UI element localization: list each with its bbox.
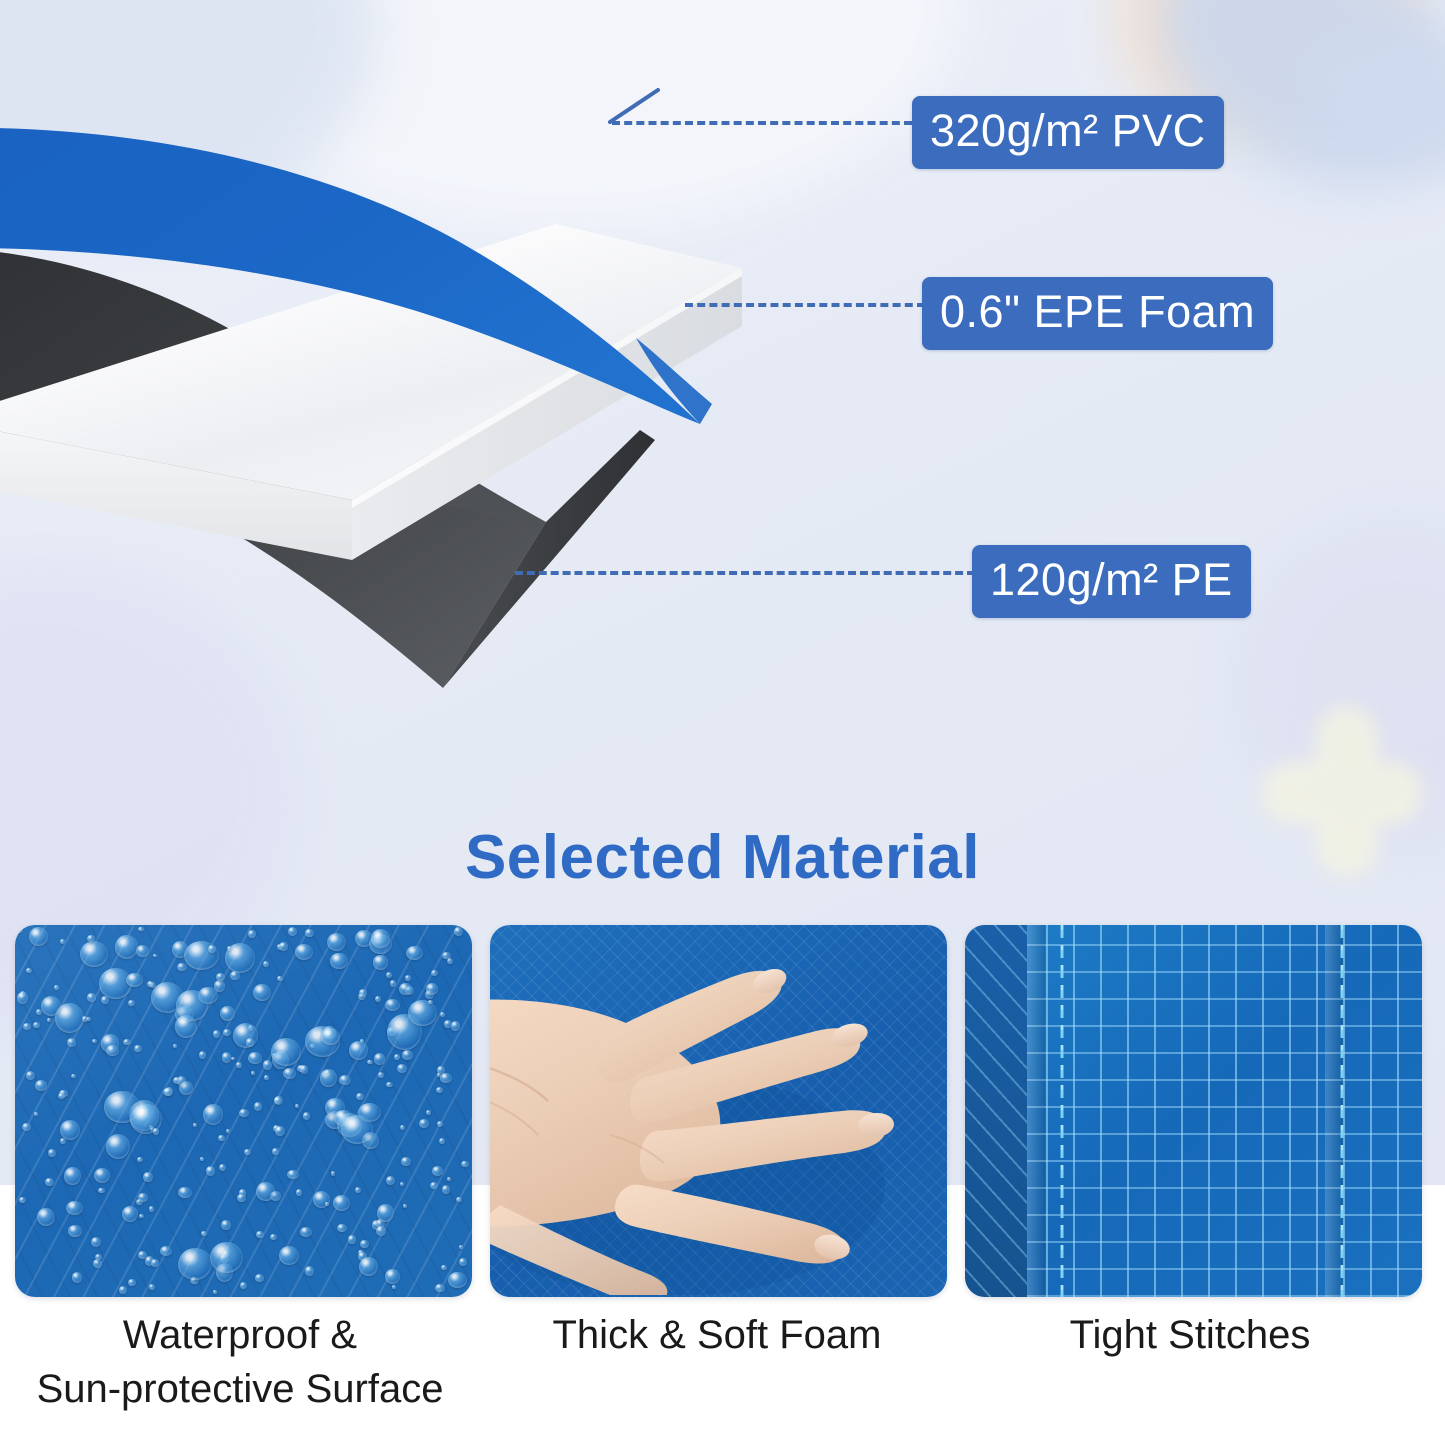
water-droplet — [367, 1060, 372, 1064]
water-droplet — [72, 1272, 83, 1283]
water-droplet — [440, 1073, 452, 1082]
callout-badge-pvc: 320g/m² PVC — [912, 96, 1224, 169]
water-droplet — [399, 983, 412, 996]
water-droplet — [459, 1258, 468, 1266]
caption-waterproof-line2: Sun-protective Surface — [5, 1362, 475, 1416]
water-droplet — [220, 1006, 235, 1021]
water-droplet — [60, 1120, 80, 1140]
water-droplet — [371, 929, 391, 947]
water-droplet — [67, 1038, 76, 1047]
water-droplet — [337, 1224, 347, 1232]
water-droplet — [341, 1115, 374, 1144]
water-droplet — [386, 972, 392, 978]
water-droplet — [373, 955, 389, 970]
water-droplet — [376, 1226, 386, 1236]
water-droplet — [272, 1148, 279, 1155]
water-droplet — [248, 930, 256, 938]
water-droplet — [270, 1234, 277, 1240]
water-droplet — [385, 1269, 399, 1284]
water-droplet — [374, 1053, 386, 1065]
water-droplet — [82, 1016, 88, 1022]
caption-stitches-line1: Tight Stitches — [955, 1308, 1425, 1362]
feature-panel-waterproof — [15, 925, 472, 1297]
water-droplet — [68, 1225, 82, 1237]
water-droplet — [287, 1170, 299, 1180]
water-droplet — [325, 1202, 329, 1206]
water-droplet — [87, 935, 95, 942]
water-droplet — [71, 1074, 76, 1078]
water-droplet — [106, 1134, 130, 1159]
water-droplet — [87, 993, 97, 1002]
caption-waterproof-line1: Waterproof & — [5, 1308, 475, 1362]
feature-panel-stitches — [965, 925, 1422, 1297]
leader-line-pe — [515, 571, 975, 575]
water-droplet — [279, 1246, 299, 1265]
water-droplet — [34, 1112, 39, 1116]
water-droplet — [193, 1123, 197, 1127]
water-droplet — [440, 1012, 445, 1017]
water-droplet — [461, 1161, 469, 1168]
water-droplet — [447, 1177, 452, 1181]
water-droplet — [255, 1274, 264, 1282]
water-droplet — [101, 996, 109, 1004]
water-droplet — [277, 976, 283, 981]
water-droplet — [321, 1028, 340, 1045]
water-droplet — [448, 1272, 467, 1288]
water-droplet — [236, 1062, 242, 1069]
water-droplet — [244, 1149, 251, 1155]
water-droplet — [163, 1088, 172, 1096]
water-droplet — [313, 1191, 330, 1208]
feature-caption-row: Waterproof & Sun-protective Surface Thic… — [0, 1308, 1445, 1429]
water-droplet — [240, 1282, 247, 1289]
water-droplet — [230, 971, 240, 980]
water-droplet — [459, 1245, 463, 1249]
water-droplet — [405, 975, 412, 981]
water-droplet — [223, 1029, 231, 1036]
water-droplet — [23, 1023, 31, 1030]
water-droplet — [58, 1093, 66, 1100]
water-droplet — [219, 1164, 226, 1171]
water-droplet — [29, 927, 48, 946]
water-droplet — [295, 1104, 299, 1108]
water-droplet — [296, 1189, 302, 1196]
feature-panel-foam — [490, 925, 947, 1297]
callout-badge-epe: 0.6" EPE Foam — [922, 277, 1273, 350]
water-droplet — [305, 929, 313, 937]
water-droplet — [26, 1071, 35, 1080]
water-droplet — [231, 1057, 235, 1060]
water-droplet — [392, 1285, 396, 1289]
caption-foam: Thick & Soft Foam — [482, 1308, 952, 1362]
water-droplet — [115, 935, 138, 959]
water-droplet — [303, 1112, 310, 1120]
water-droplet — [406, 946, 423, 961]
water-droplet — [426, 983, 439, 995]
water-droplet — [123, 1039, 131, 1046]
water-droplet — [333, 1195, 350, 1211]
water-droplet — [143, 1172, 153, 1182]
water-droplets — [15, 925, 472, 1297]
water-droplet — [173, 1044, 178, 1049]
water-droplet — [33, 1022, 40, 1029]
water-droplet — [153, 954, 157, 958]
water-droplet — [356, 1093, 365, 1101]
water-droplet — [213, 1030, 220, 1038]
water-droplet — [402, 1050, 413, 1059]
water-droplet — [178, 1187, 192, 1199]
caption-waterproof: Waterproof & Sun-protective Surface — [5, 1308, 475, 1416]
water-droplet — [431, 970, 438, 976]
water-droplet — [216, 973, 225, 981]
water-droplet — [295, 944, 313, 960]
water-droplet — [330, 953, 347, 970]
water-droplet — [136, 945, 150, 957]
water-droplet — [26, 968, 33, 974]
water-droplet — [153, 1128, 160, 1135]
water-droplet — [239, 1109, 249, 1117]
water-droplet — [210, 1242, 244, 1274]
water-droplet — [327, 933, 346, 951]
water-droplet — [441, 1265, 446, 1270]
water-droplet — [377, 1204, 394, 1221]
water-droplet — [305, 1266, 315, 1276]
water-droplet — [375, 996, 381, 1002]
water-droplet — [48, 1149, 56, 1157]
water-droplet — [401, 1157, 410, 1166]
water-droplet — [93, 1259, 102, 1268]
water-droplet — [436, 1087, 444, 1094]
water-droplet — [349, 1041, 368, 1059]
water-droplet — [360, 1240, 369, 1249]
water-droplet — [359, 989, 367, 997]
water-droplet — [271, 1038, 301, 1066]
water-droplet — [394, 1054, 400, 1060]
water-droplet — [248, 1052, 261, 1064]
water-droplet — [206, 1166, 216, 1176]
water-droplet — [128, 1279, 136, 1286]
water-droplet — [339, 1075, 351, 1085]
water-droplet — [263, 961, 269, 967]
water-droplet — [106, 1045, 120, 1056]
water-droplet — [263, 1060, 272, 1070]
callout-badge-pe: 120g/m² PE — [972, 545, 1251, 618]
section-title: Selected Material — [0, 822, 1445, 893]
water-droplet — [137, 1157, 143, 1162]
water-droplet — [138, 927, 144, 932]
water-droplet — [213, 1290, 218, 1294]
water-droplet — [149, 1284, 154, 1290]
caption-stitches: Tight Stitches — [955, 1308, 1425, 1362]
water-droplet — [400, 1125, 405, 1130]
water-droplet — [227, 946, 232, 951]
water-droplet — [430, 1182, 438, 1189]
water-droplet — [283, 1068, 296, 1079]
water-droplet — [200, 1157, 204, 1161]
water-droplet — [45, 1178, 54, 1186]
water-droplet — [94, 1168, 110, 1183]
water-droplet — [359, 1257, 378, 1276]
water-droplet — [454, 927, 463, 936]
water-droplet — [91, 1237, 102, 1248]
water-droplet — [66, 1201, 83, 1215]
water-droplet — [264, 1075, 269, 1080]
water-droplet — [122, 1206, 138, 1222]
water-droplet — [275, 1126, 285, 1136]
water-droplet — [439, 1138, 445, 1144]
water-droplet — [437, 1121, 443, 1127]
water-droplet — [22, 1123, 31, 1131]
water-droplet — [300, 1065, 308, 1073]
layered-material-illustration — [0, 0, 1000, 760]
water-droplet — [355, 1187, 361, 1193]
water-droplet — [19, 1197, 26, 1204]
water-droplet — [279, 942, 288, 951]
water-droplet — [435, 1284, 444, 1292]
feature-panel-row — [0, 925, 1445, 1300]
water-droplet — [251, 1071, 256, 1076]
water-droplet — [218, 1135, 225, 1142]
water-droplet — [173, 1077, 181, 1084]
water-droplet — [237, 1194, 246, 1202]
water-droplet — [177, 963, 187, 971]
water-droplet — [178, 1248, 212, 1280]
water-droplet — [456, 1197, 462, 1202]
water-droplet — [222, 1052, 232, 1063]
water-droplet — [199, 1051, 207, 1059]
water-droplet — [386, 1082, 392, 1087]
leader-line-pvc — [612, 121, 912, 125]
product-infographic: 320g/m² PVC 0.6" EPE Foam 120g/m² PE Sel… — [0, 0, 1445, 1429]
water-droplet — [160, 1246, 172, 1256]
water-droplet — [139, 1214, 144, 1218]
water-droplet — [226, 1129, 231, 1134]
water-droplet — [397, 1064, 406, 1073]
water-droplet — [151, 1259, 159, 1267]
water-droplet — [221, 1220, 230, 1230]
water-droplet — [95, 1254, 102, 1261]
water-droplet — [35, 1080, 47, 1091]
water-droplet — [451, 1021, 460, 1030]
water-droplet — [80, 941, 108, 967]
water-droplet — [256, 1231, 263, 1239]
water-droplet — [331, 1171, 335, 1175]
water-droplet — [403, 1204, 407, 1208]
water-droplet — [208, 945, 216, 953]
water-droplet — [149, 1206, 155, 1212]
water-droplet — [37, 1208, 55, 1226]
water-droplet — [419, 1119, 430, 1128]
water-droplet — [254, 1102, 262, 1111]
ripstop-fold-left — [1027, 925, 1045, 1297]
water-droplet — [203, 1104, 223, 1125]
caption-foam-line1: Thick & Soft Foam — [482, 1308, 952, 1362]
water-droplet — [378, 1072, 384, 1078]
water-droplet — [408, 1000, 437, 1026]
stitch-seam-right — [1337, 925, 1347, 1297]
water-droplet — [17, 992, 29, 1005]
water-droplet — [385, 999, 400, 1011]
water-droplet — [92, 1039, 97, 1043]
water-droplet — [175, 1015, 198, 1038]
hand-photo — [490, 935, 947, 1295]
ripstop-left-band — [965, 925, 1027, 1297]
water-droplet — [126, 973, 143, 987]
water-droplet — [201, 1231, 207, 1236]
water-droplet — [400, 1182, 404, 1186]
water-droplet — [442, 1185, 451, 1194]
water-droplet — [64, 1167, 81, 1185]
water-droplet — [119, 1286, 128, 1294]
water-droplet — [60, 939, 65, 944]
water-droplet — [54, 985, 59, 990]
stitch-seam-left — [1057, 925, 1067, 1297]
water-droplet — [386, 1176, 395, 1185]
water-droplet — [390, 980, 396, 987]
water-droplet — [17, 926, 24, 933]
water-droplet — [138, 1193, 147, 1203]
water-droplet — [426, 1110, 431, 1115]
leader-line-epe — [685, 303, 925, 307]
water-droplet — [300, 1227, 312, 1237]
water-droplet — [134, 1045, 142, 1053]
water-droplet — [432, 1166, 443, 1176]
water-droplet — [253, 984, 271, 1001]
water-droplet — [98, 1188, 104, 1193]
leader-line-diagonal-pvc — [608, 88, 660, 124]
water-droplet — [246, 1038, 254, 1046]
water-droplet — [47, 1018, 51, 1022]
water-droplet — [288, 927, 297, 937]
water-droplet — [348, 1235, 357, 1244]
water-droplet — [442, 952, 451, 959]
water-droplet — [128, 1000, 135, 1006]
